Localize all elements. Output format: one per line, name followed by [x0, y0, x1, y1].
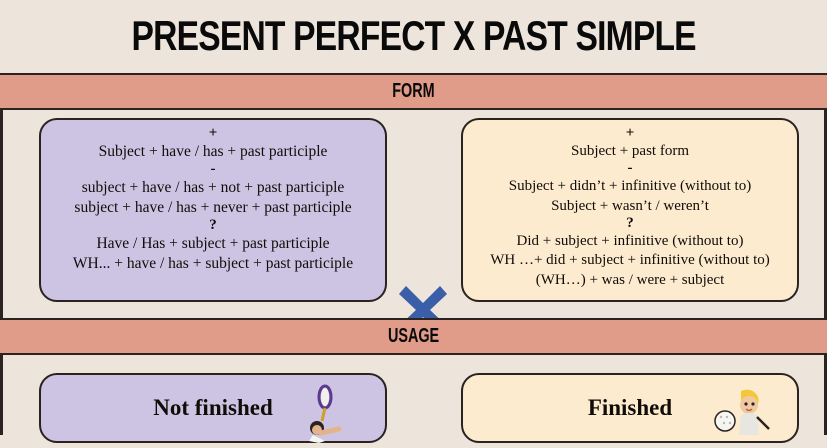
- past-simple-question-line-2: WH …+ did + subject + infinitive (withou…: [463, 251, 797, 271]
- section-heading-usage: USAGE: [0, 318, 827, 355]
- present-perfect-negative-line-2: subject + have / has + never + past part…: [41, 198, 385, 218]
- present-perfect-form-box: + Subject + have / has + past participle…: [39, 118, 387, 302]
- past-simple-negative-line-1: Subject + didn’t + infinitive (without t…: [463, 177, 797, 197]
- past-simple-affirmative-line: Subject + past form: [463, 142, 797, 162]
- usage-finished-box: Finished: [461, 373, 799, 443]
- poster: PRESENT PERFECT X PAST SIMPLE FORM + Sub…: [0, 0, 827, 435]
- question-symbol: ?: [463, 216, 797, 232]
- plus-symbol: +: [463, 126, 797, 142]
- past-simple-negative-line-2: Subject + wasn’t / weren’t: [463, 197, 797, 217]
- section-heading-form: FORM: [0, 73, 827, 110]
- present-perfect-negative-line-1: subject + have / has + not + past partic…: [41, 178, 385, 198]
- past-simple-question-line-3: (WH…) + was / were + subject: [463, 271, 797, 291]
- present-perfect-question-line-1: Have / Has + subject + past participle: [41, 234, 385, 254]
- past-simple-question-line-1: Did + subject + infinitive (without to): [463, 232, 797, 252]
- tennis-player-icon: [299, 383, 361, 443]
- section-heading-form-label: FORM: [392, 80, 434, 103]
- section-heading-usage-label: USAGE: [388, 325, 439, 348]
- page-title: PRESENT PERFECT X PAST SIMPLE: [0, 0, 827, 72]
- usage-not-finished-box: Not finished: [39, 373, 387, 443]
- present-perfect-affirmative-line: Subject + have / has + past participle: [41, 142, 385, 162]
- past-simple-form-box: + Subject + past form - Subject + didn’t…: [461, 118, 799, 302]
- page-title-text: PRESENT PERFECT X PAST SIMPLE: [131, 15, 695, 57]
- minus-symbol: -: [41, 162, 385, 178]
- golfer-icon: [711, 383, 773, 443]
- form-content-area: + Subject + have / has + past participle…: [0, 110, 827, 318]
- usage-content-area: Not finished Finished: [0, 355, 827, 435]
- minus-symbol: -: [463, 161, 797, 177]
- present-perfect-question-line-2: WH... + have / has + subject + past part…: [41, 254, 385, 274]
- question-symbol: ?: [41, 218, 385, 234]
- plus-symbol: +: [41, 126, 385, 142]
